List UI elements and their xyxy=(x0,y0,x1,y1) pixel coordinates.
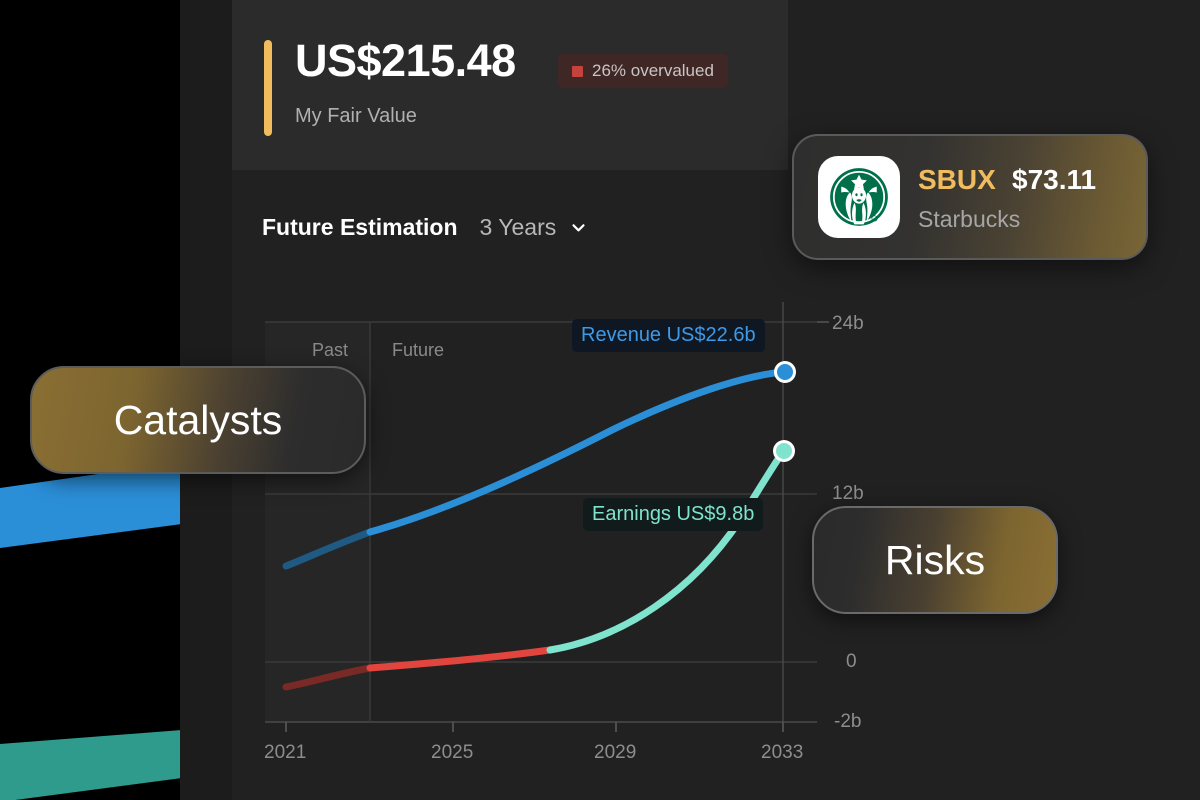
valuation-badge: 26% overvalued xyxy=(558,54,728,88)
earnings-annotation: Earnings US$9.8b xyxy=(583,498,763,531)
ticker-price: $73.11 xyxy=(1012,164,1096,196)
ytick-label-0: 24b xyxy=(832,313,864,335)
region-label-future: Future xyxy=(392,340,444,361)
ytick-label-1: 12b xyxy=(832,483,864,505)
catalysts-chip-label: Catalysts xyxy=(114,397,283,444)
ticker-company-name: Starbucks xyxy=(918,206,1020,233)
ticker-symbol: SBUX xyxy=(918,164,996,196)
revenue-endpoint-dot xyxy=(777,364,793,380)
valuation-swatch-icon xyxy=(572,66,583,77)
earnings-line-near-term xyxy=(370,650,550,668)
risks-chip[interactable]: Risks xyxy=(812,506,1058,614)
ytick-label-3: -2b xyxy=(834,711,861,733)
blue-ribbon-left xyxy=(0,462,182,548)
screenshot-stage: US$215.48 My Fair Value 26% overvalued F… xyxy=(0,0,1200,800)
fair-value-accent-bar xyxy=(264,40,272,136)
starbucks-logo-icon: R xyxy=(818,156,900,238)
fair-value-label: My Fair Value xyxy=(295,105,417,128)
catalysts-chip[interactable]: Catalysts xyxy=(30,366,366,474)
period-selector-value[interactable]: 3 Years xyxy=(480,214,557,241)
region-label-past: Past xyxy=(312,340,348,361)
valuation-badge-label: 26% overvalued xyxy=(592,61,714,81)
xtick-label-2: 2029 xyxy=(594,742,636,764)
future-estimation-row: Future Estimation 3 Years xyxy=(262,214,587,241)
earnings-line-future xyxy=(550,452,783,650)
teal-ribbon-left xyxy=(0,730,182,800)
xtick-label-3: 2033 xyxy=(761,742,803,764)
ticker-card[interactable]: R SBUX $73.11 Starbucks xyxy=(792,134,1148,260)
xtick-label-0: 2021 xyxy=(264,742,306,764)
ytick-label-2: 0 xyxy=(846,651,857,673)
chevron-down-icon[interactable] xyxy=(570,219,587,236)
revenue-annotation: Revenue US$22.6b xyxy=(572,319,765,352)
risks-chip-label: Risks xyxy=(885,537,985,584)
xtick-label-1: 2025 xyxy=(431,742,473,764)
fair-value-price: US$215.48 xyxy=(295,38,516,83)
starbucks-siren-glyph: R xyxy=(822,160,896,234)
earnings-endpoint-dot xyxy=(776,443,792,459)
section-title: Future Estimation xyxy=(262,214,458,241)
